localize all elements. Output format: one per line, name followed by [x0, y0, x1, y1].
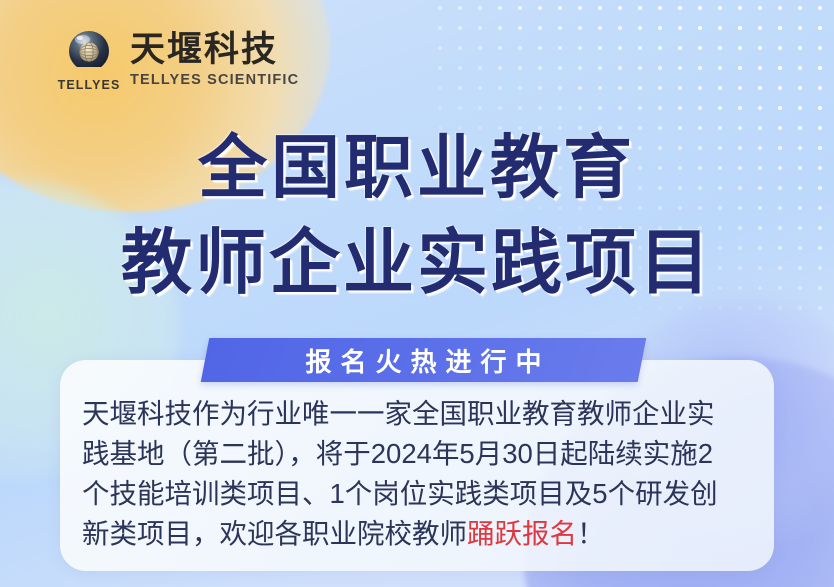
- brand-logo: TELLYES 天堰科技 TELLYES SCIENTIFIC: [58, 30, 299, 92]
- body-line-4-suffix: ！: [577, 518, 605, 549]
- poster-headline: 全国职业教育 教师企业实践项目: [0, 122, 834, 311]
- logo-wordmark: 天堰科技 TELLYES SCIENTIFIC: [130, 30, 299, 90]
- brand-name-en: TELLYES SCIENTIFIC: [130, 71, 299, 90]
- body-line-4: 新类项目，欢迎各职业院校教师踊跃报名！: [82, 514, 752, 554]
- body-line-3: 个技能培训类项目、1个岗位实践类项目及5个研发创: [82, 474, 752, 514]
- body-line-2: 践基地（第二批），将于2024年5月30日起陆续实施2: [82, 434, 752, 474]
- signup-highlight: 踊跃报名: [467, 518, 577, 549]
- announcement-text: 天堰科技作为行业唯一一家全国职业教育教师企业实 践基地（第二批），将于2024年…: [60, 394, 774, 554]
- globe-emblem-icon: [66, 30, 112, 76]
- promo-poster: TELLYES 天堰科技 TELLYES SCIENTIFIC 全国职业教育 教…: [0, 0, 834, 587]
- headline-line-1: 全国职业教育: [0, 122, 834, 215]
- status-ribbon-label: 报名火热进行中: [205, 338, 642, 382]
- logo-mark: TELLYES: [58, 30, 120, 92]
- logo-trademark: TELLYES: [58, 78, 121, 92]
- body-line-1: 天堰科技作为行业唯一一家全国职业教育教师企业实: [82, 394, 752, 434]
- body-line-4-prefix: 新类项目，欢迎各职业院校教师: [82, 518, 467, 549]
- headline-line-2: 教师企业实践项目: [0, 215, 834, 311]
- brand-name-cn: 天堰科技: [130, 32, 299, 68]
